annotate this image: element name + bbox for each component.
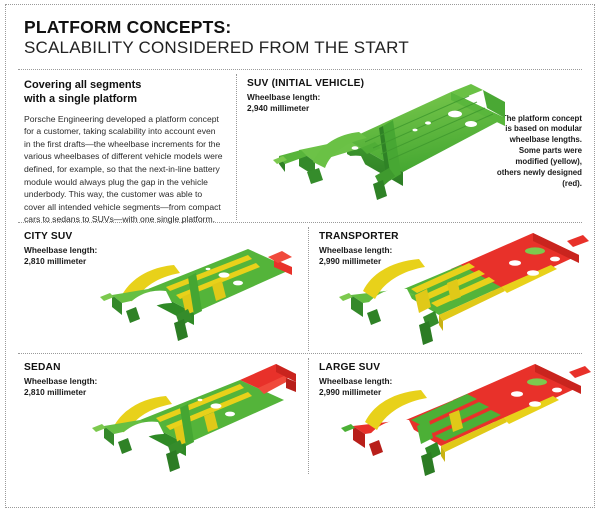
infographic-page: PLATFORM CONCEPTS: SCALABILITY CONSIDERE…: [0, 0, 600, 513]
title-line-2: SCALABILITY CONSIDERED FROM THE START: [24, 38, 582, 57]
intro-body: Porsche Engineering developed a platform…: [24, 113, 224, 226]
transporter-panel: TRANSPORTER Wheelbase length: 2,990 mill…: [309, 223, 582, 267]
row-sedan-and-large-suv: SEDAN Wheelbase length: 2,810 millimeter: [18, 354, 582, 476]
intro-column: Covering all segments with a single plat…: [18, 70, 236, 226]
row-city-suv-and-transporter: CITY SUV Wheelbase length: 2,810 millime…: [18, 223, 582, 353]
chassis-render-sedan: [90, 362, 306, 474]
chassis-render-suv-initial: [255, 76, 513, 216]
title-line-1: PLATFORM CONCEPTS:: [24, 18, 582, 37]
large-suv-panel: LARGE SUV Wheelbase length: 2,990 millim…: [309, 354, 582, 398]
suv-initial-panel: SUV (INITIAL VEHICLE) Wheelbase length: …: [237, 70, 582, 222]
intro-heading: Covering all segments with a single plat…: [24, 78, 224, 106]
chassis-render-city-suv: [96, 233, 306, 345]
page-inner: PLATFORM CONCEPTS: SCALABILITY CONSIDERE…: [6, 6, 594, 507]
chassis-render-transporter: [311, 229, 593, 347]
city-suv-panel: CITY SUV Wheelbase length: 2,810 millime…: [18, 223, 308, 267]
page-title: PLATFORM CONCEPTS: SCALABILITY CONSIDERE…: [18, 6, 582, 63]
chassis-render-large-suv: [315, 360, 595, 478]
row-intro-and-suv: Covering all segments with a single plat…: [18, 70, 582, 222]
sedan-panel: SEDAN Wheelbase length: 2,810 millimeter: [18, 354, 308, 398]
